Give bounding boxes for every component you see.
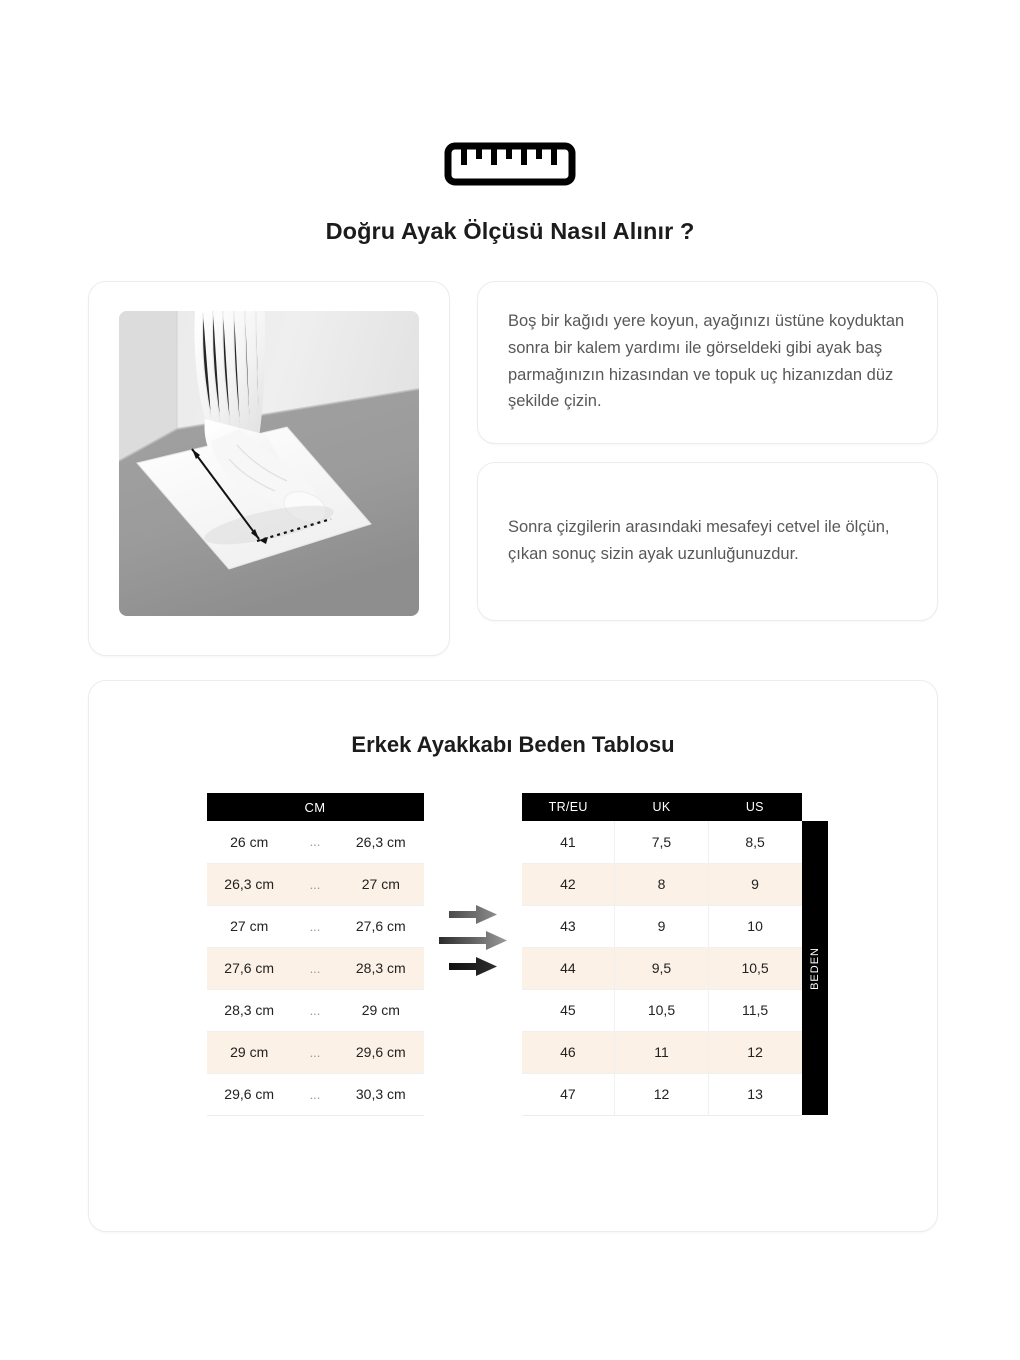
instructions-section: Boş bir kağıdı yere koyun, ayağınızı üst… — [88, 281, 938, 656]
cm-separator: ... — [292, 905, 338, 947]
size-table-body: 41 7,5 8,5 42 8 9 43 9 10 — [522, 821, 802, 1115]
cm-to: 27 cm — [338, 863, 423, 905]
beden-label: BEDEN — [809, 947, 821, 990]
size-header-us: US — [708, 793, 801, 821]
cm-to: 26,3 cm — [338, 821, 423, 863]
cm-separator: ... — [292, 989, 338, 1031]
cm-to: 29,6 cm — [338, 1031, 423, 1073]
size-us: 12 — [708, 1031, 801, 1073]
page-title: Doğru Ayak Ölçüsü Nasıl Alınır ? — [0, 218, 1020, 245]
size-uk: 10,5 — [615, 989, 708, 1031]
cm-header-cell: CM — [207, 793, 424, 821]
size-us: 8,5 — [708, 821, 801, 863]
table-row: 29,6 cm ... 30,3 cm — [207, 1073, 424, 1115]
size-uk: 9,5 — [615, 947, 708, 989]
table-row: 43 9 10 — [522, 905, 802, 947]
table-row: 26,3 cm ... 27 cm — [207, 863, 424, 905]
table-row: 27,6 cm ... 28,3 cm — [207, 947, 424, 989]
cm-from: 27,6 cm — [207, 947, 292, 989]
cm-to: 27,6 cm — [338, 905, 423, 947]
cm-table-header-row: CM — [207, 793, 424, 821]
foot-measurement-photo — [119, 311, 419, 616]
cm-to: 29 cm — [338, 989, 423, 1031]
table-row: 29 cm ... 29,6 cm — [207, 1031, 424, 1073]
size-table-wrapper: TR/EU UK US 41 7,5 8,5 42 8 — [522, 793, 828, 1116]
instruction-card-1: Boş bir kağıdı yere koyun, ayağınızı üst… — [477, 281, 938, 444]
size-tr-eu: 45 — [522, 989, 615, 1031]
size-tr-eu: 41 — [522, 821, 615, 863]
cm-table: CM 26 cm ... 26,3 cm 26,3 cm ... 27 cm — [207, 793, 424, 1116]
table-row: 28,3 cm ... 29 cm — [207, 989, 424, 1031]
cm-separator: ... — [292, 1031, 338, 1073]
size-us: 10,5 — [708, 947, 801, 989]
size-table: TR/EU UK US 41 7,5 8,5 42 8 — [522, 793, 802, 1116]
beden-side-label-bar: BEDEN — [802, 821, 828, 1115]
size-table-head: TR/EU UK US — [522, 793, 802, 821]
table-row: 46 11 12 — [522, 1031, 802, 1073]
cm-from: 29 cm — [207, 1031, 292, 1073]
size-tr-eu: 43 — [522, 905, 615, 947]
instruction-text-2: Sonra çizgilerin arasındaki mesafeyi cet… — [508, 514, 907, 567]
size-uk: 12 — [615, 1073, 708, 1115]
cm-separator: ... — [292, 821, 338, 863]
size-us: 11,5 — [708, 989, 801, 1031]
tables-row: CM 26 cm ... 26,3 cm 26,3 cm ... 27 cm — [89, 793, 937, 1116]
right-arrow-icon-medium — [449, 957, 497, 976]
cm-from: 27 cm — [207, 905, 292, 947]
table-row: 45 10,5 11,5 — [522, 989, 802, 1031]
cm-to: 30,3 cm — [338, 1073, 423, 1115]
table-row: 27 cm ... 27,6 cm — [207, 905, 424, 947]
cm-from: 28,3 cm — [207, 989, 292, 1031]
cm-from: 26,3 cm — [207, 863, 292, 905]
size-tr-eu: 44 — [522, 947, 615, 989]
table-row: 47 12 13 — [522, 1073, 802, 1115]
instruction-text-1: Boş bir kağıdı yere koyun, ayağınızı üst… — [508, 308, 907, 415]
cm-separator: ... — [292, 863, 338, 905]
size-us: 9 — [708, 863, 801, 905]
size-tr-eu: 46 — [522, 1031, 615, 1073]
size-tr-eu: 47 — [522, 1073, 615, 1115]
table-row: 26 cm ... 26,3 cm — [207, 821, 424, 863]
size-uk: 8 — [615, 863, 708, 905]
ruler-icon — [444, 142, 576, 186]
photo-card — [88, 281, 450, 656]
size-table-header-row: TR/EU UK US — [522, 793, 802, 821]
size-table-card: Erkek Ayakkabı Beden Tablosu CM 26 cm ..… — [88, 680, 938, 1232]
table-row: 41 7,5 8,5 — [522, 821, 802, 863]
table-row: 44 9,5 10,5 — [522, 947, 802, 989]
cm-to: 28,3 cm — [338, 947, 423, 989]
cm-from: 26 cm — [207, 821, 292, 863]
cm-table-body: 26 cm ... 26,3 cm 26,3 cm ... 27 cm 27 c… — [207, 821, 424, 1115]
size-uk: 7,5 — [615, 821, 708, 863]
size-tr-eu: 42 — [522, 863, 615, 905]
cm-separator: ... — [292, 1073, 338, 1115]
cm-table-head: CM — [207, 793, 424, 821]
instruction-text-column: Boş bir kağıdı yere koyun, ayağınızı üst… — [477, 281, 938, 621]
triple-right-arrow-icon-group — [424, 793, 522, 976]
size-uk: 11 — [615, 1031, 708, 1073]
right-arrow-icon-short — [449, 905, 497, 924]
size-guide-page: Doğru Ayak Ölçüsü Nasıl Alınır ? — [0, 0, 1020, 1360]
size-header-tr-eu: TR/EU — [522, 793, 615, 821]
size-uk: 9 — [615, 905, 708, 947]
cm-separator: ... — [292, 947, 338, 989]
size-us: 10 — [708, 905, 801, 947]
instruction-card-2: Sonra çizgilerin arasındaki mesafeyi cet… — [477, 462, 938, 621]
size-header-uk: UK — [615, 793, 708, 821]
size-table-title: Erkek Ayakkabı Beden Tablosu — [89, 732, 937, 758]
size-us: 13 — [708, 1073, 801, 1115]
ruler-icon-container — [0, 142, 1020, 186]
cm-from: 29,6 cm — [207, 1073, 292, 1115]
right-arrow-icon-long — [439, 931, 507, 950]
table-row: 42 8 9 — [522, 863, 802, 905]
